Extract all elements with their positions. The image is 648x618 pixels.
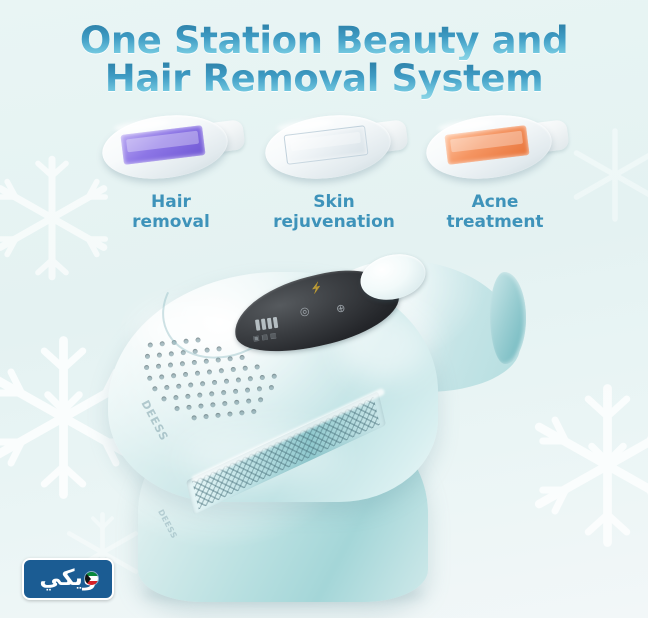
headline: One Station Beauty and Hair Removal Syst… [0, 22, 648, 99]
mode-icon: ◎ [299, 306, 311, 319]
kuwait-flag-icon [84, 571, 99, 586]
headline-line-1: One Station Beauty and [0, 22, 648, 60]
headline-line-2: Hair Removal System [0, 60, 648, 98]
device-handle-tip [490, 272, 526, 364]
cartridge-label: Hair removal [76, 192, 266, 233]
intensity-level-bars [255, 317, 278, 331]
cartridge-label: Acne treatment [400, 192, 590, 233]
cartridge-label-line-2: treatment [400, 212, 590, 232]
product-device-ipl-handset: ⚡ ◎ ⊕ ▣ ▤ ▥ DEESS DEESS [108, 250, 578, 602]
cartridge-item-acne-treatment[interactable]: Acne treatment [400, 108, 590, 233]
hair-removal-cartridge-icon [96, 108, 246, 186]
skin-rejuvenation-cartridge-icon [259, 108, 409, 186]
skin-sensor-icon: ⊕ [335, 303, 347, 316]
panel-mode-icons: ▣ ▤ ▥ [253, 333, 277, 343]
site-watermark-logo[interactable]: ويكي [22, 558, 114, 600]
cartridge-feature-row: Hair removal Skin rejuvenation [0, 108, 648, 253]
cartridge-label-line-2: removal [76, 212, 266, 232]
cartridge-label-line-1: Acne [400, 192, 590, 212]
flash-icon: ⚡ [310, 283, 325, 296]
advertisement-canvas: One Station Beauty and Hair Removal Syst… [0, 0, 648, 618]
cartridge-item-hair-removal[interactable]: Hair removal [76, 108, 266, 233]
cartridge-label-line-1: Hair [76, 192, 266, 212]
acne-treatment-cartridge-icon [420, 108, 570, 186]
